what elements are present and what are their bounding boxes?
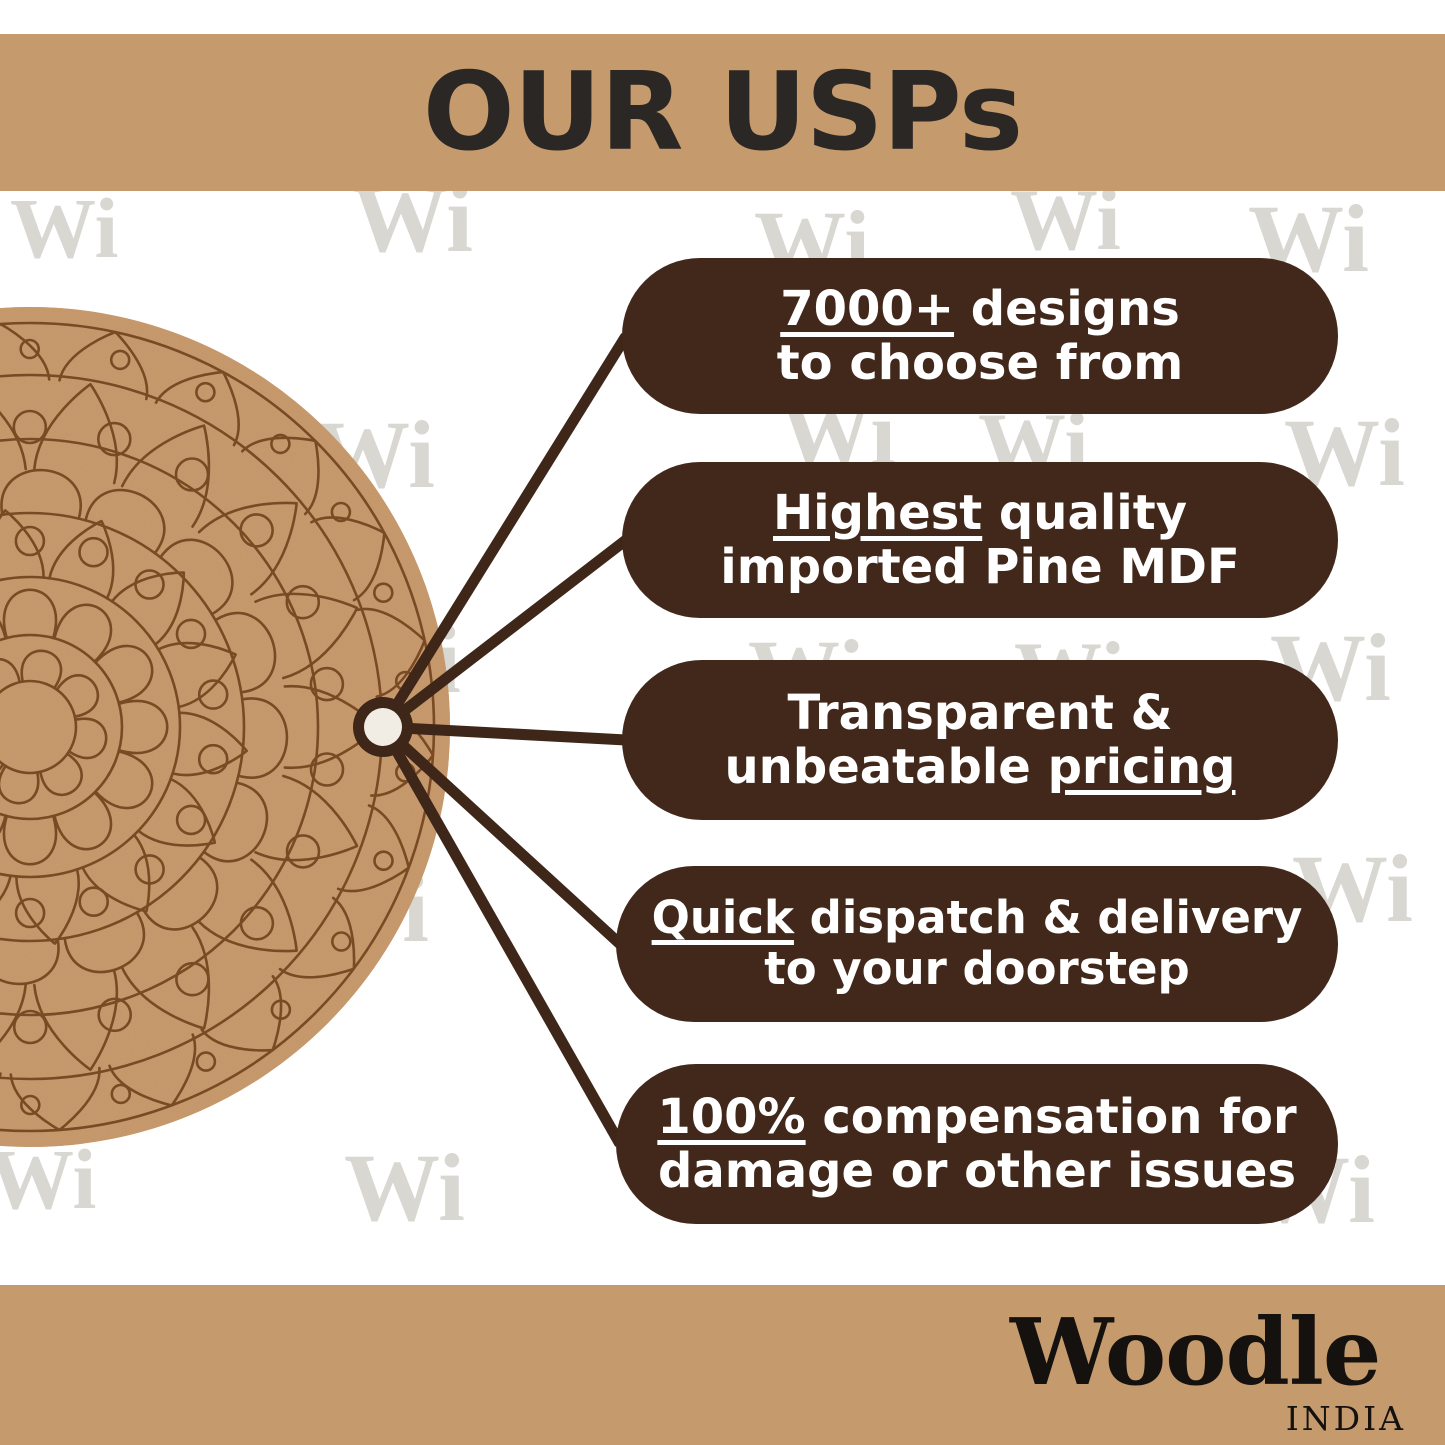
usp-designs-keyword: 7000+ (780, 281, 954, 337)
usp-dispatch-keyword: Quick (652, 891, 794, 944)
usp-quality[interactable]: Highest qualityimported Pine MDF (622, 462, 1338, 618)
usp-designs[interactable]: 7000+ designsto choose from (622, 258, 1338, 414)
usp-compensation-line1-rest: compensation for (806, 1089, 1297, 1145)
connector-line (383, 336, 626, 727)
usp-pricing-line2: unbeatable pricing (725, 740, 1236, 794)
usp-designs-text: 7000+ designsto choose from (751, 282, 1210, 390)
usp-compensation-line1: 100% compensation for (657, 1090, 1296, 1144)
connector-line (383, 727, 626, 740)
usp-dispatch-line1: Quick dispatch & delivery (652, 893, 1303, 944)
usp-designs-line1-rest: designs (954, 281, 1180, 337)
usp-pricing-line1-rest: Transparent & (788, 685, 1173, 741)
usp-pricing[interactable]: Transparent &unbeatable pricing (622, 660, 1338, 820)
usp-dispatch[interactable]: Quick dispatch & deliveryto your doorste… (616, 866, 1338, 1022)
connector-line (383, 540, 626, 727)
usp-pricing-line1: Transparent & (725, 686, 1236, 740)
usp-compensation-line2: damage or other issues (657, 1144, 1296, 1198)
usp-dispatch-line1-rest: dispatch & delivery (794, 891, 1302, 944)
brand-name: Woodle (1010, 1306, 1380, 1398)
usp-dispatch-text: Quick dispatch & deliveryto your doorste… (626, 893, 1329, 995)
usp-quality-line1: Highest quality (720, 486, 1240, 540)
connector-line (383, 727, 620, 944)
usp-quality-text: Highest qualityimported Pine MDF (694, 486, 1266, 594)
usp-quality-keyword: Highest (773, 485, 982, 541)
usp-compensation-keyword: 100% (657, 1089, 805, 1145)
usp-dispatch-line2: to your doorstep (652, 944, 1303, 995)
usp-quality-line2: imported Pine MDF (720, 540, 1240, 594)
infographic-canvas: WiWiWiWiWiWiWiWiWiWiWiWiWiWiWiWiWiWiWiWi… (0, 0, 1445, 1445)
usp-pricing-keyword: pricing (1048, 739, 1236, 795)
page-title: OUR USPs (0, 34, 1445, 191)
usp-pricing-line2-prefix: unbeatable (725, 739, 1048, 795)
usp-pricing-text: Transparent &unbeatable pricing (699, 686, 1262, 794)
usp-compensation-text: 100% compensation fordamage or other iss… (631, 1090, 1322, 1198)
usp-compensation[interactable]: 100% compensation fordamage or other iss… (616, 1064, 1338, 1224)
brand-logo: Woodle INDIA (1010, 1306, 1410, 1434)
usp-designs-line1: 7000+ designs (777, 282, 1184, 336)
usp-quality-line1-rest: quality (982, 485, 1187, 541)
connector-line (383, 727, 620, 1144)
hub-node-inner (364, 708, 402, 746)
brand-subtitle: INDIA (1286, 1402, 1406, 1435)
usp-designs-line2: to choose from (777, 336, 1184, 390)
